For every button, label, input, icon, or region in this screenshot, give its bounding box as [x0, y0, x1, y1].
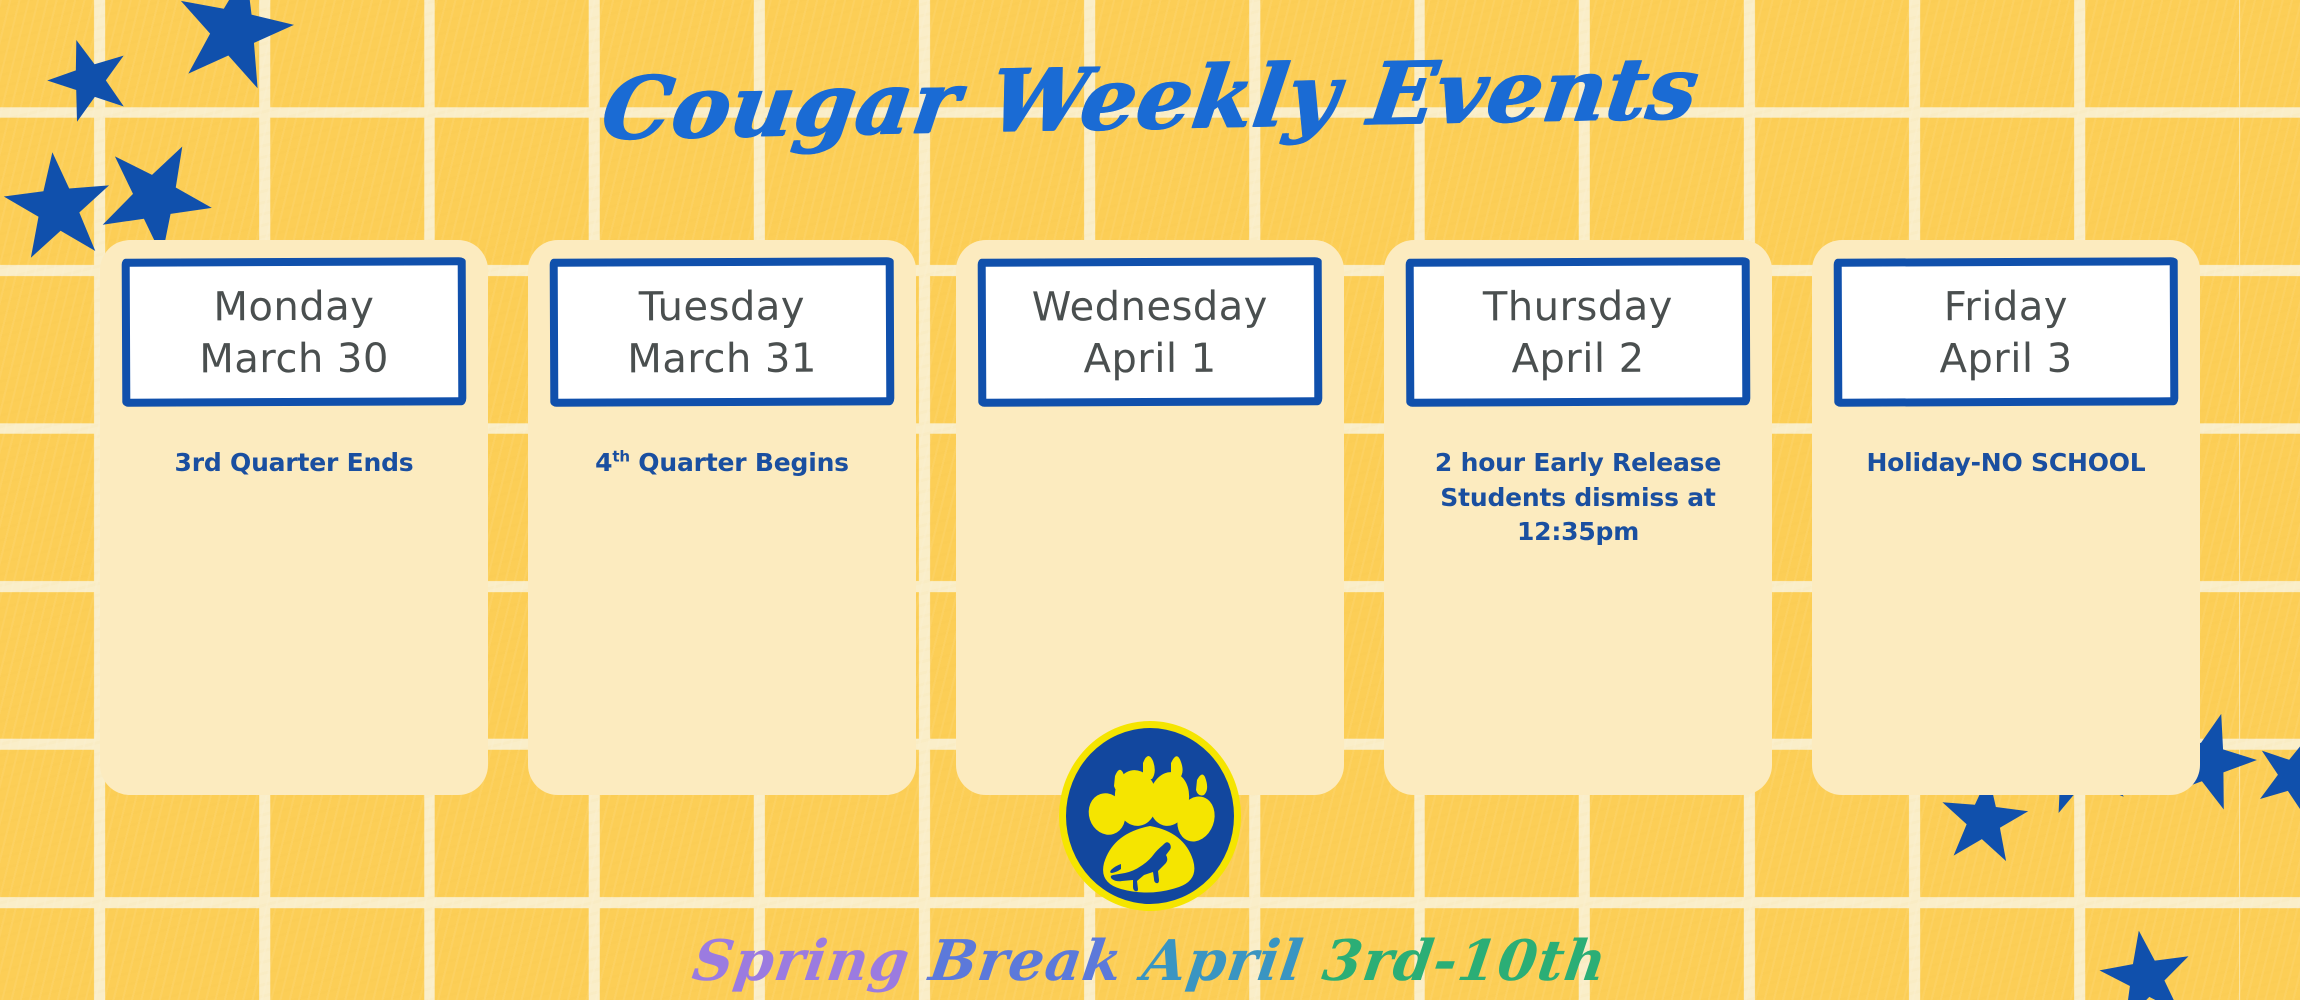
event-text: Holiday-NO SCHOOL [1836, 446, 2176, 481]
cougar-paw-logo [1057, 718, 1243, 914]
footer-note-segment: Break [925, 928, 1147, 994]
footer-note-segment: Spring [689, 928, 935, 994]
day-events: 2 hour Early ReleaseStudents dismiss at1… [1408, 446, 1748, 550]
day-events: Holiday-NO SCHOOL [1836, 446, 2176, 481]
event-text-suffix: Quarter Begins [630, 448, 849, 477]
event-text: 4th Quarter Begins [552, 446, 892, 481]
day-name: Thursday [1483, 283, 1673, 330]
day-header: MondayMarch 30 [122, 257, 467, 406]
event-text-main: 2 hour Early Release [1435, 448, 1721, 477]
event-text: 2 hour Early Release [1408, 446, 1748, 481]
footer-note-segment: April [1138, 928, 1327, 994]
event-text: 3rd Quarter Ends [124, 446, 464, 481]
day-date: April 1 [1083, 336, 1216, 383]
weekly-events-poster: Cougar Weekly Events MondayMarch 303rd Q… [0, 0, 2300, 1000]
day-header: WednesdayApril 1 [978, 257, 1323, 406]
day-card: ThursdayApril 22 hour Early ReleaseStude… [1384, 240, 1772, 795]
day-card: FridayApril 3Holiday-NO SCHOOL [1812, 240, 2200, 795]
day-date: March 31 [627, 336, 817, 383]
day-header: TuesdayMarch 31 [550, 257, 895, 406]
day-date: April 3 [1939, 336, 2072, 383]
event-text-main: 3rd [175, 448, 222, 477]
event-text-main: 12:35pm [1517, 517, 1639, 546]
day-header: ThursdayApril 2 [1406, 257, 1751, 406]
day-card: WednesdayApril 1 [956, 240, 1344, 795]
event-text-main: Students dismiss at [1440, 483, 1715, 512]
footer-note-segment: 3rd-10th [1319, 928, 1612, 994]
day-name: Monday [213, 283, 374, 330]
day-events: 3rd Quarter Ends [124, 446, 464, 481]
event-text-main: 4 [595, 448, 612, 477]
event-text: 12:35pm [1408, 515, 1748, 550]
day-events: 4th Quarter Begins [552, 446, 892, 481]
day-date: April 2 [1511, 336, 1644, 383]
day-card: MondayMarch 303rd Quarter Ends [100, 240, 488, 795]
event-text-superscript: th [612, 448, 629, 466]
day-card: TuesdayMarch 314th Quarter Begins [528, 240, 916, 795]
week-days-row: MondayMarch 303rd Quarter EndsTuesdayMar… [100, 240, 2200, 795]
spring-break-note: Spring Break April 3rd-10th [0, 928, 2300, 994]
event-text: Students dismiss at [1408, 481, 1748, 516]
event-text-suffix: Quarter Ends [222, 448, 414, 477]
event-text-main: Holiday-NO SCHOOL [1866, 448, 2145, 477]
day-header: FridayApril 3 [1834, 257, 2179, 406]
day-name: Wednesday [1032, 283, 1268, 330]
day-date: March 30 [199, 336, 389, 383]
day-name: Friday [1944, 283, 2068, 330]
day-name: Tuesday [639, 283, 805, 330]
